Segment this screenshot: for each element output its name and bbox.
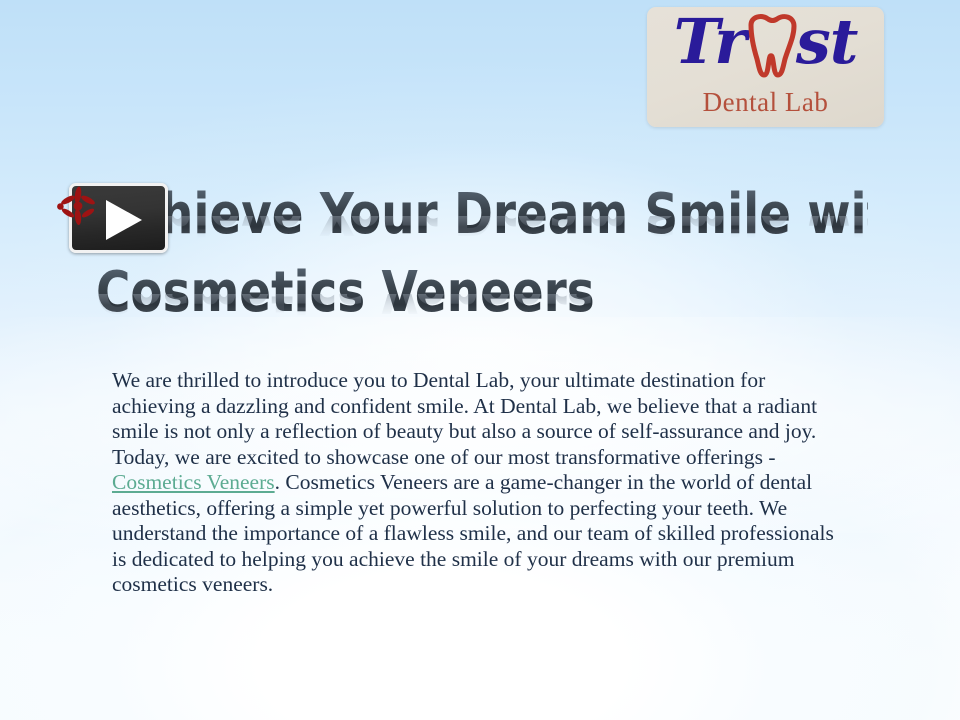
red-starburst-icon xyxy=(57,186,99,228)
title-line-2-group: Cosmetics Veneers Cosmetics Veneers xyxy=(96,264,926,348)
trust-dental-lab-logo: Trst Dental Lab xyxy=(647,7,884,127)
body-text-part-1: We are thrilled to introduce you to Dent… xyxy=(112,368,817,469)
title-line-1-group: Achieve Your Dream Smile with Achieve Yo… xyxy=(96,186,926,270)
tooth-icon xyxy=(746,17,796,77)
slide-title: Achieve Your Dream Smile with Achieve Yo… xyxy=(96,186,926,348)
presentation-slide: Trst Dental Lab Dental Lab Achieve Your … xyxy=(0,0,960,720)
title-line-1: Achieve Your Dream Smile with xyxy=(96,186,868,244)
logo-subtitle: Dental Lab xyxy=(647,89,884,116)
play-triangle-icon xyxy=(106,200,142,240)
logo-reflection: Dental Lab xyxy=(647,128,884,180)
logo-wordmark: Trst xyxy=(647,11,884,77)
logo-word-after-tooth: st xyxy=(796,7,858,78)
cosmetics-veneers-link[interactable]: Cosmetics Veneers xyxy=(112,470,275,494)
logo-word-before-tooth: Tr xyxy=(674,7,746,78)
title-line-2: Cosmetics Veneers xyxy=(96,264,868,322)
body-paragraph: We are thrilled to introduce you to Dent… xyxy=(112,368,852,598)
